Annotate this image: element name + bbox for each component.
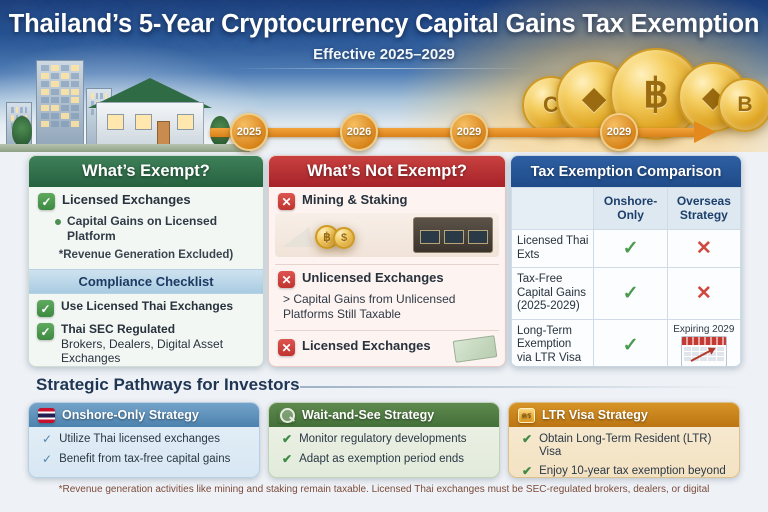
exempt-item-licensed-exchanges: ✓ Licensed Exchanges <box>29 187 263 210</box>
check-icon: ✓ <box>42 453 52 467</box>
card-bullet: ✔ Adapt as exemption period ends <box>269 447 499 467</box>
checklist-item-strong: Use Licensed Thai Exchanges <box>61 299 233 313</box>
checklist-item-0: ✓ Use Licensed Thai Exchanges <box>29 294 263 317</box>
table-row: Long-Term Exemption via LTR Visa ✓ Expir… <box>512 319 741 367</box>
thai-flag-icon <box>38 408 55 423</box>
check-icon: ✓ <box>42 433 52 447</box>
not-exempt-item-label: Unlicensed Exchanges <box>302 270 444 286</box>
card-bullet-text: Monitor regulatory developments <box>299 433 466 447</box>
card-bullet: ✓ Utilize Thai licensed exchanges <box>29 427 259 447</box>
card-bullet: ✔ Monitor regulatory developments <box>269 427 499 447</box>
table-cell-onshore-check: ✓ <box>594 230 667 268</box>
pickaxe-icon <box>283 227 313 247</box>
card-ltr-visa-strategy[interactable]: คร LTR Visa Strategy ✔ Obtain Long-Term … <box>508 402 740 478</box>
table-col-blank <box>512 188 594 230</box>
card-bullet-text: Enjoy 10-year tax exemption beyond 2029 <box>539 465 729 478</box>
banknotes-icon <box>453 335 498 363</box>
table-row: Tax-Free Capital Gains (2025-2029) ✓ ✕ <box>512 268 741 320</box>
title-divider <box>232 68 532 69</box>
check-icon: ✔ <box>522 465 532 478</box>
card-title: Wait-and-See Strategy <box>302 408 434 422</box>
footnote: *Revenue generation activities like mini… <box>0 484 768 495</box>
timeline: 2025 2026 2029 2029 <box>210 122 730 142</box>
timeline-node-2029a[interactable]: 2029 <box>450 113 488 151</box>
house-icon <box>96 102 204 146</box>
table-col-onshore-only: Onshore-Only <box>594 188 667 230</box>
table-row-label: Tax-Free Capital Gains (2025-2029) <box>512 268 594 320</box>
card-bullet: ✔ Obtain Long-Term Resident (LTR) Visa <box>509 427 739 459</box>
exempt-sub-bullet-text: Capital Gains on Licensed Platform <box>67 214 254 243</box>
not-exempt-item-label: Mining & Staking <box>302 192 407 208</box>
cross-icon: ✕ <box>278 193 295 210</box>
checklist-item-strong: Thai SEC Regulated <box>61 322 175 336</box>
panel-whats-not-exempt: What’s Not Exempt? ✕ Mining & Staking ฿ … <box>268 155 506 367</box>
card-bullet-text: Obtain Long-Term Resident (LTR) Visa <box>539 433 729 459</box>
building-tall-icon <box>36 60 84 146</box>
calendar-icon <box>681 336 727 367</box>
panel-exempt-title: What’s Exempt? <box>29 156 263 187</box>
timeline-arrow-icon <box>694 121 716 143</box>
card-bullet-text: Utilize Thai licensed exchanges <box>59 433 220 447</box>
table-header-row: Onshore-Only Overseas Strategy <box>512 188 741 230</box>
tree-icon <box>12 116 32 146</box>
card-bullet-text: Benefit from tax-free capital gains <box>59 453 230 467</box>
checklist-item-detail: Brokers, Dealers, Digital Asset Exchange… <box>61 337 223 365</box>
card-header: Wait-and-See Strategy <box>269 403 499 427</box>
not-exempt-item-mining-staking: ✕ Mining & Staking <box>269 187 505 210</box>
table-cell-overseas-cross: ✕ <box>667 268 740 320</box>
comparison-table: Onshore-Only Overseas Strategy Licensed … <box>511 187 741 367</box>
check-icon: ✓ <box>38 193 55 210</box>
checklist-item-label: Thai SEC Regulated Brokers, Dealers, Dig… <box>61 322 255 365</box>
ground-strip <box>0 144 250 152</box>
timeline-node-2025[interactable]: 2025 <box>230 113 268 151</box>
compliance-checklist-title: Compliance Checklist <box>29 269 263 294</box>
card-onshore-only-strategy[interactable]: Onshore-Only Strategy ✓ Utilize Thai lic… <box>28 402 260 478</box>
checklist-item-label: Use Licensed Thai Exchanges <box>61 299 233 317</box>
timeline-node-2026[interactable]: 2026 <box>340 113 378 151</box>
table-row: Licensed Thai Exts ✓ ✕ <box>512 230 741 268</box>
table-cell-overseas-expiring: Expiring 2029 <box>667 319 740 367</box>
not-exempt-sub-bullet: > Capital Gains from Unlicensed Platform… <box>269 288 505 321</box>
infographic-canvas: C ◆ ฿ ◆ B Thailand’s 5-Year Cryptocurren… <box>0 0 768 512</box>
check-icon: ✔ <box>282 433 292 447</box>
table-row-label: Long-Term Exemption via LTR Visa <box>512 319 594 367</box>
exempt-item-label: Licensed Exchanges <box>62 192 191 208</box>
strategic-pathways-title: Strategic Pathways for Investors <box>36 375 300 395</box>
panel-not-exempt-title: What’s Not Exempt? <box>269 156 505 187</box>
table-cell-overseas-cross: ✕ <box>667 230 740 268</box>
page-subtitle: Effective 2025–2029 <box>0 46 768 63</box>
card-bullet-text: Adapt as exemption period ends <box>299 453 464 467</box>
table-cell-onshore-check: ✓ <box>594 319 667 367</box>
checklist-item-1: ✓ Thai SEC Regulated Brokers, Dealers, D… <box>29 317 263 365</box>
card-wait-and-see-strategy[interactable]: Wait-and-See Strategy ✔ Monitor regulato… <box>268 402 500 478</box>
coin-dollar-icon: $ <box>333 227 355 249</box>
table-cell-onshore-check: ✓ <box>594 268 667 320</box>
table-row-label: Licensed Thai Exts <box>512 230 594 268</box>
cross-icon: ✕ <box>278 339 295 356</box>
not-exempt-item-unlicensed-exchanges: ✕ Unlicensed Exchanges <box>269 265 505 288</box>
check-icon: ✔ <box>522 433 532 459</box>
card-header: คร LTR Visa Strategy <box>509 403 739 427</box>
table-col-overseas-strategy: Overseas Strategy <box>667 188 740 230</box>
mining-rig-icon <box>413 217 493 253</box>
card-bullet: ✓ Benefit from tax-free capital gains <box>29 447 259 467</box>
check-icon: ✓ <box>37 300 54 317</box>
not-exempt-item-licensed-exchanges: ✕ Licensed Exchanges <box>269 331 505 360</box>
magnifier-icon <box>278 408 295 423</box>
panel-whats-exempt: What’s Exempt? ✓ Licensed Exchanges Capi… <box>28 155 264 367</box>
card-title: Onshore-Only Strategy <box>62 408 199 422</box>
cross-icon: ✕ <box>278 271 295 288</box>
bullet-dot-icon <box>55 219 61 225</box>
exempt-note: *Revenue Generation Excluded) <box>29 243 263 261</box>
timeline-node-2029b[interactable]: 2029 <box>600 113 638 151</box>
panel-comparison-title: Tax Exemption Comparison <box>511 156 741 187</box>
mining-rig-illustration: ฿ $ <box>275 213 499 257</box>
panel-tax-exemption-comparison: Tax Exemption Comparison Onshore-Only Ov… <box>510 155 742 367</box>
check-icon: ✓ <box>37 323 54 340</box>
check-icon: ✔ <box>282 453 292 467</box>
not-exempt-sub-bullet-text: > Capital Gains from Unlicensed Platform… <box>283 292 496 321</box>
exempt-sub-bullet: Capital Gains on Licensed Platform <box>29 210 263 243</box>
visa-badge-icon: คร <box>518 408 535 423</box>
card-header: Onshore-Only Strategy <box>29 403 259 427</box>
card-title: LTR Visa Strategy <box>542 408 648 422</box>
strategic-pathways-divider <box>300 386 740 388</box>
not-exempt-item-label: Licensed Exchanges <box>302 338 431 354</box>
card-bullet: ✔ Enjoy 10-year tax exemption beyond 202… <box>509 459 739 478</box>
expiring-label: Expiring 2029 <box>670 324 738 335</box>
page-title: Thailand’s 5-Year Cryptocurrency Capital… <box>0 10 768 39</box>
